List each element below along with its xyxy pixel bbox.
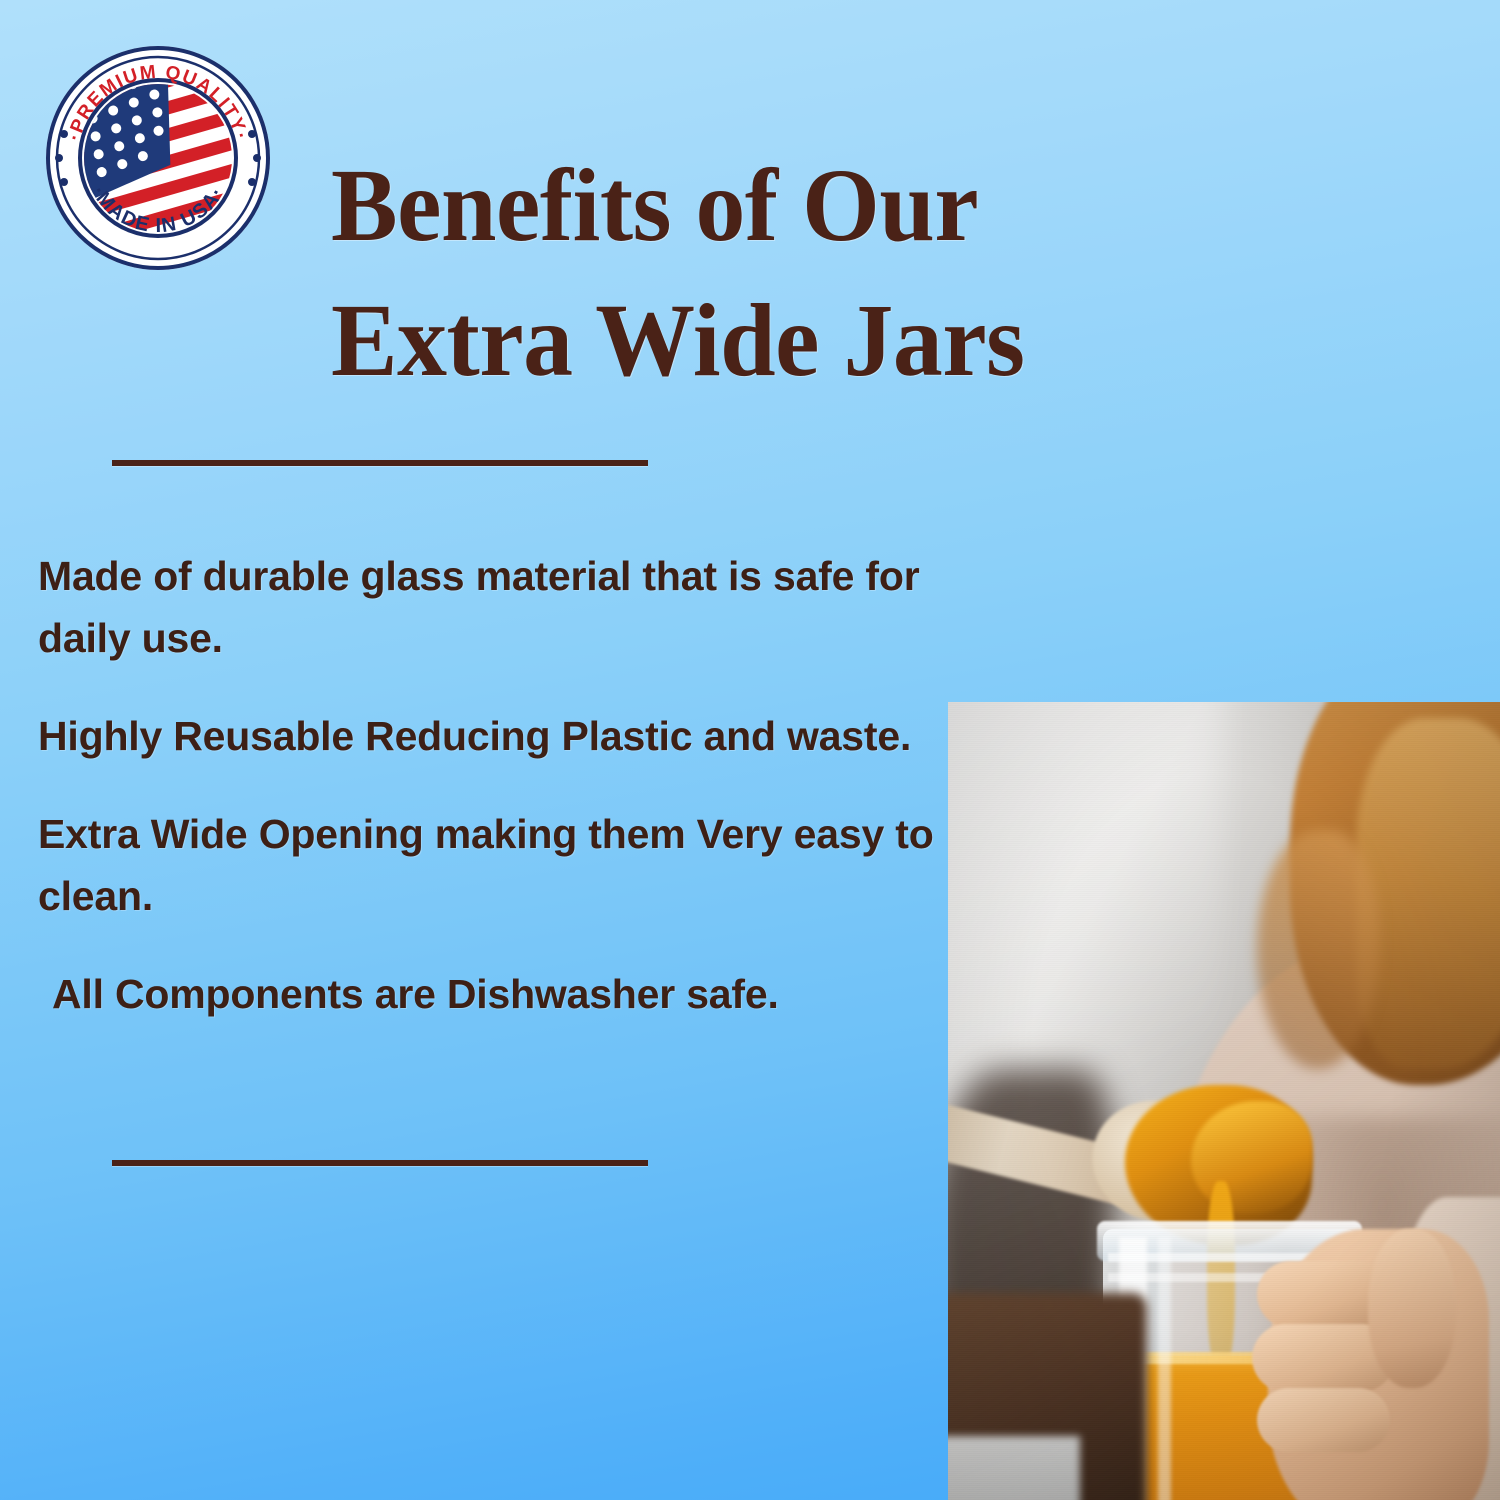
page-title: Benefits of Our Extra Wide Jars <box>331 138 1451 408</box>
benefits-list: Made of durable glass material that is s… <box>38 545 938 1025</box>
photo-honey-highlight <box>1191 1101 1312 1213</box>
divider-bottom <box>112 1160 648 1166</box>
benefit-item-2: Highly Reusable Reducing Plastic and was… <box>38 705 938 767</box>
photo-finger-3 <box>1257 1388 1389 1452</box>
benefit-item-4: All Components are Dishwasher safe. <box>38 963 938 1025</box>
benefit-item-3: Extra Wide Opening making them Very easy… <box>38 803 938 927</box>
photo-counter-light <box>948 1436 1080 1500</box>
photo-person-hair-strand <box>1356 718 1500 1069</box>
photo-jar-highlight-2 <box>1158 1237 1171 1500</box>
divider-top <box>112 460 648 466</box>
product-lifestyle-photo <box>948 702 1500 1500</box>
photo-thumb <box>1368 1229 1456 1389</box>
title-line-2: Extra Wide Jars <box>331 273 1406 408</box>
infographic-canvas: ·PREMIUM QUALITY· ·MADE IN USA· Benefits… <box>0 0 1500 1500</box>
title-line-1: Benefits of Our <box>331 138 1406 273</box>
photo-person-hair-wisp <box>1257 830 1378 1069</box>
benefit-item-1: Made of durable glass material that is s… <box>38 545 938 669</box>
made-in-usa-badge: ·PREMIUM QUALITY· ·MADE IN USA· <box>42 42 274 274</box>
